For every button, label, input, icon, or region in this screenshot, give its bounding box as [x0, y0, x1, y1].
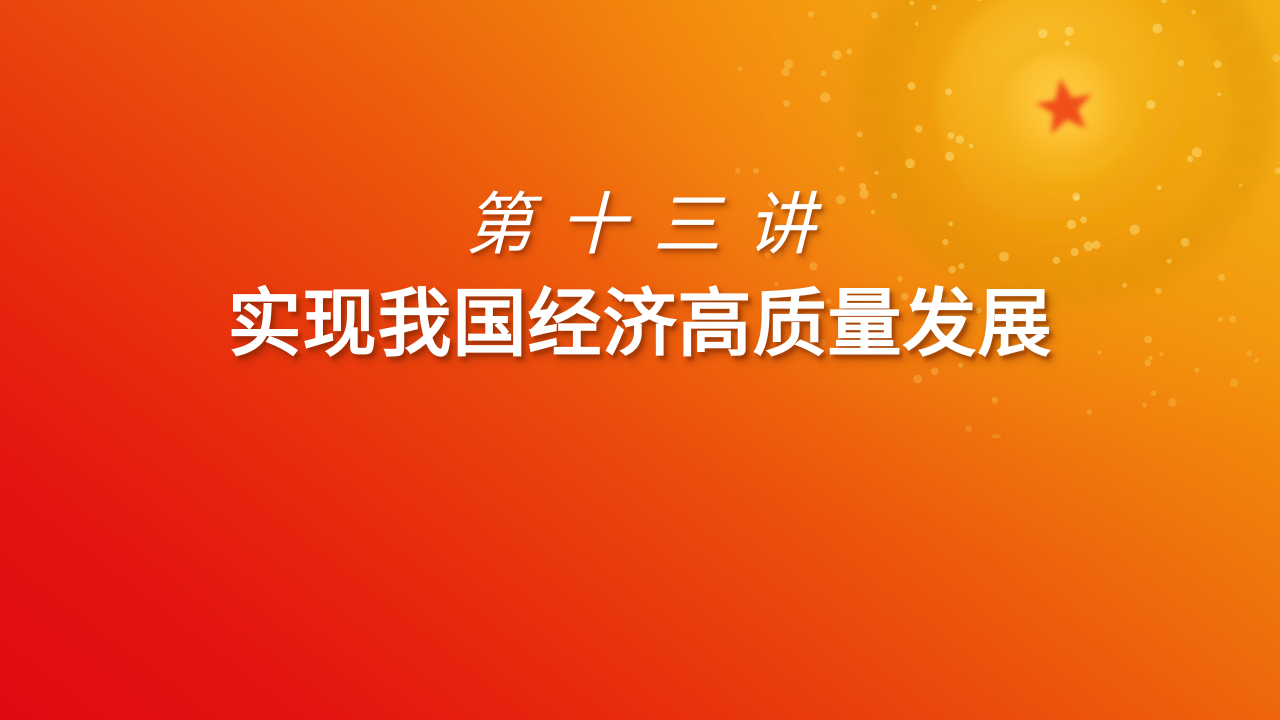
lecture-number-label: 第十三讲	[439, 190, 841, 262]
red-star-icon	[1032, 74, 1097, 136]
slide-canvas: 第十三讲 实现我国经济高质量发展	[0, 0, 1280, 720]
slide-main-title: 实现我国经济高质量发展	[228, 286, 1053, 364]
background-sheen	[0, 0, 1280, 720]
title-block: 第十三讲 实现我国经济高质量发展	[0, 0, 1280, 720]
